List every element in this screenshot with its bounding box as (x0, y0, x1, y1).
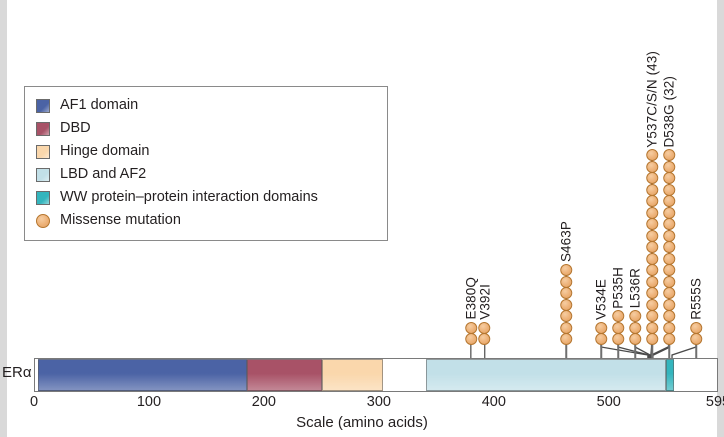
mutation-dot (690, 333, 702, 345)
mutation-dot (612, 322, 624, 334)
mutation-dot (560, 264, 572, 276)
mutation-lollipop: Y537C/S/N (43) (645, 51, 659, 359)
mutation-dot (663, 207, 675, 219)
mutation-dot (663, 310, 675, 322)
mutation-lollipop: S463P (560, 221, 574, 359)
domain-segment (666, 359, 674, 391)
mutation-dot (646, 310, 658, 322)
mutation-dot (479, 333, 491, 345)
mutation-dot (663, 230, 675, 242)
mutation-dot (663, 264, 675, 276)
mutation-dot (663, 218, 675, 230)
mutation-dot (663, 195, 675, 207)
mutation-dot (646, 161, 658, 173)
mutation-dot (646, 149, 658, 161)
mutation-dot (560, 287, 572, 299)
mutation-lollipop: E380Q (464, 277, 478, 359)
mutation-dot-stack (465, 322, 477, 345)
mutation-label: Y537C/S/N (43) (645, 51, 659, 148)
mutation-dot (646, 207, 658, 219)
mutation-dot (646, 218, 658, 230)
mutation-dot (646, 184, 658, 196)
mutation-label: V534E (594, 279, 608, 320)
mutation-dot (646, 241, 658, 253)
mutation-dot (646, 276, 658, 288)
mutation-lollipop: D538G (32) (662, 76, 676, 359)
domain-segment (322, 359, 383, 391)
mutation-lollipops: E380QV392IS463PV534EP535HL536RY537C/S/N … (34, 0, 718, 359)
mutation-dot (663, 276, 675, 288)
er-alpha-mutation-lollipop-figure: AF1 domainDBDHinge domainLBD and AF2WW p… (0, 0, 724, 437)
domain-segment (247, 359, 323, 391)
mutation-dot (646, 287, 658, 299)
lollipop-stem (651, 345, 653, 359)
mutation-dot (479, 322, 491, 334)
axis-tick-label: 300 (367, 394, 391, 410)
mutation-dot (560, 310, 572, 322)
axis-tick-label: 200 (252, 394, 276, 410)
mutation-lollipop: V534E (594, 279, 608, 359)
mutation-dot (663, 287, 675, 299)
mutation-dot (646, 253, 658, 265)
mutation-dot (663, 241, 675, 253)
mutation-dot (690, 322, 702, 334)
mutation-dot (465, 322, 477, 334)
lollipop-stem (695, 345, 697, 359)
mutation-dot-stack (595, 322, 607, 345)
domain-segment (38, 359, 246, 391)
mutation-lollipop: R555S (689, 278, 703, 359)
mutation-dot (646, 322, 658, 334)
lollipop-stem (470, 345, 472, 359)
domain-segment (426, 359, 666, 391)
mutation-dot-stack (646, 150, 658, 346)
axis-tick-label: 400 (482, 394, 506, 410)
mutation-dot (595, 322, 607, 334)
lollipop-stem (668, 345, 670, 359)
mutation-label: L536R (628, 268, 642, 308)
mutation-dot-stack (663, 150, 675, 346)
mutation-dot (560, 299, 572, 311)
mutation-dot (629, 310, 641, 322)
mutation-dot (663, 333, 675, 345)
lollipop-stem (617, 345, 619, 359)
mutation-dot (595, 333, 607, 345)
mutation-dot-stack (479, 322, 491, 345)
mutation-label: S463P (560, 221, 574, 262)
axis-tick-label: 500 (597, 394, 621, 410)
mutation-dot-stack (690, 322, 702, 345)
mutation-dot (663, 149, 675, 161)
mutation-dot-stack (629, 311, 641, 346)
axis-tick-label: 0 (30, 394, 38, 410)
mutation-label: E380Q (464, 277, 478, 320)
mutation-label: R555S (689, 278, 703, 320)
mutation-dot (646, 172, 658, 184)
lollipop-stem (600, 345, 602, 359)
lollipop-stem (565, 345, 567, 359)
mutation-dot (612, 310, 624, 322)
mutation-lollipop: L536R (628, 268, 642, 359)
mutation-dot-stack (612, 311, 624, 346)
mutation-dot (465, 333, 477, 345)
mutation-dot (663, 172, 675, 184)
mutation-label: P535H (611, 267, 625, 309)
lollipop-stem (634, 345, 636, 359)
mutation-dot-stack (560, 265, 572, 346)
protein-domain-track (34, 358, 718, 392)
mutation-dot (663, 322, 675, 334)
axis-title: Scale (amino acids) (0, 414, 724, 431)
mutation-dot (560, 276, 572, 288)
mutation-dot (663, 299, 675, 311)
mutation-dot (612, 333, 624, 345)
mutation-dot (646, 299, 658, 311)
mutation-dot (663, 184, 675, 196)
mutation-dot (560, 322, 572, 334)
protein-name-label: ERα (2, 364, 32, 381)
mutation-dot (629, 322, 641, 334)
axis-ticks: 0100200300400500595 (34, 392, 718, 414)
mutation-dot (646, 264, 658, 276)
mutation-lollipop: V392I (478, 284, 492, 359)
mutation-dot (646, 333, 658, 345)
mutation-dot (646, 230, 658, 242)
axis-tick-label: 595 (706, 394, 724, 410)
mutation-dot (560, 333, 572, 345)
mutation-label: V392I (478, 284, 492, 320)
mutation-dot (663, 253, 675, 265)
mutation-dot (629, 333, 641, 345)
axis-tick-label: 100 (137, 394, 161, 410)
mutation-dot (663, 161, 675, 173)
mutation-dot (646, 195, 658, 207)
lollipop-stem (484, 345, 486, 359)
mutation-label: D538G (32) (662, 76, 676, 148)
right-gutter (717, 0, 724, 437)
mutation-lollipop: P535H (611, 267, 625, 359)
